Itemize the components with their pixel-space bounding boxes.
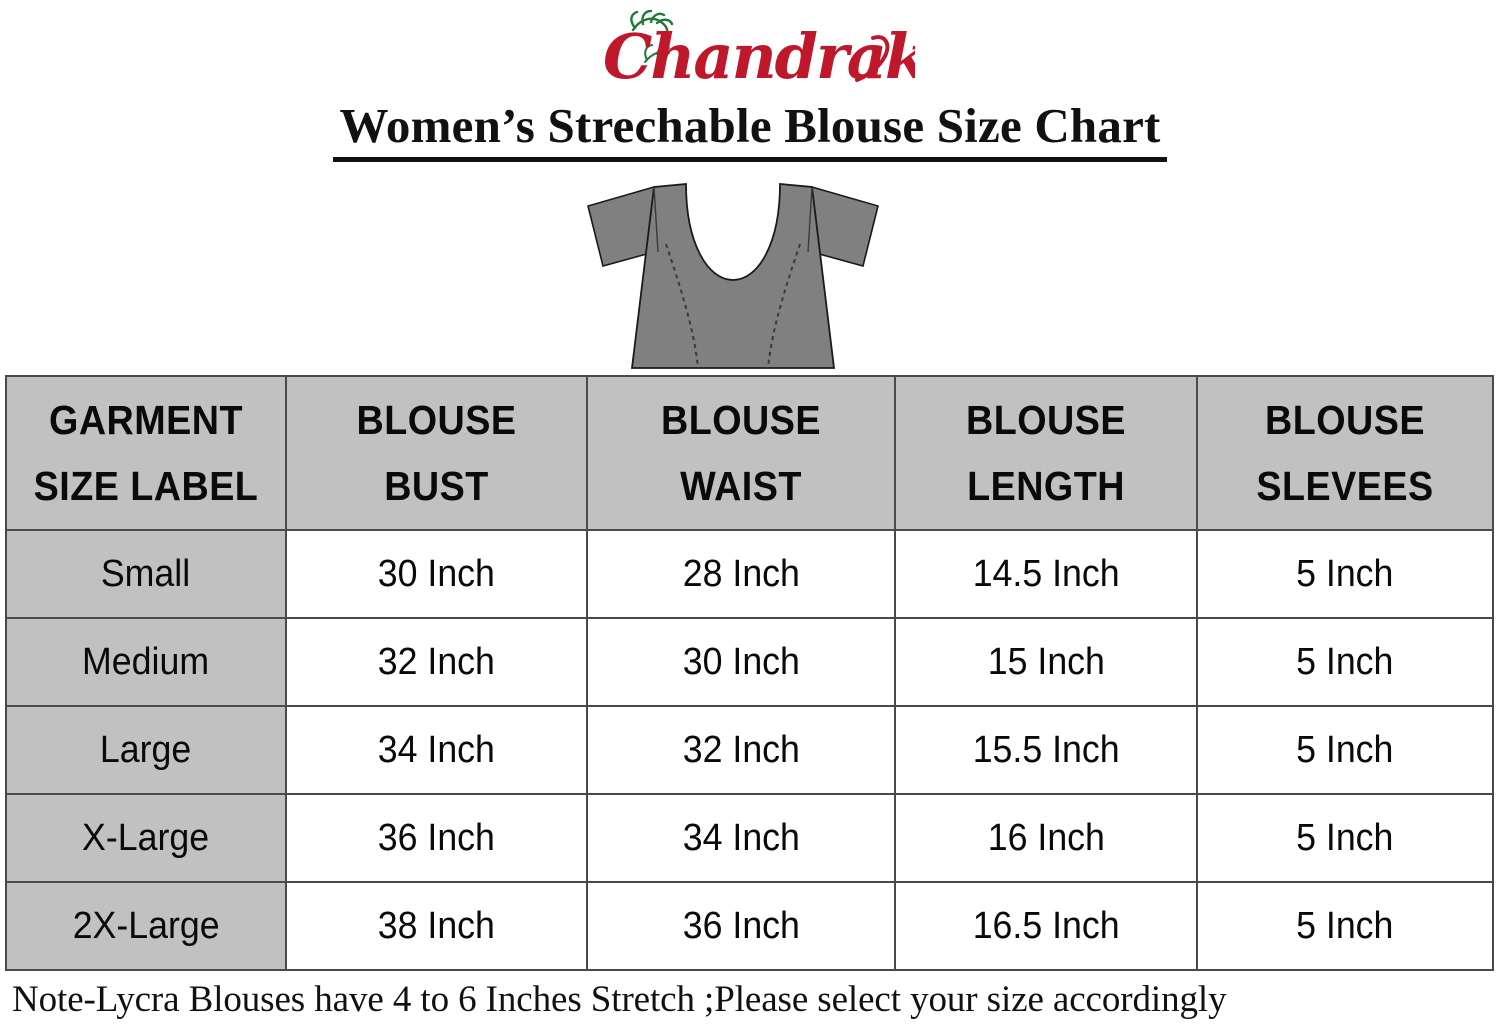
cell-sleeves: 5 Inch [1197, 882, 1493, 970]
cell-text: 14.5 Inch [973, 553, 1120, 596]
cell-length: 16 Inch [895, 794, 1197, 882]
column-header-blouse-length: BLOUSE LENGTH [895, 376, 1197, 530]
table-row: Medium 32 Inch 30 Inch 15 Inch 5 Inch [6, 618, 1493, 706]
table-row: X-Large 36 Inch 34 Inch 16 Inch 5 Inch [6, 794, 1493, 882]
cell-text: 30 Inch [378, 553, 495, 596]
cell-bust: 38 Inch [286, 882, 587, 970]
cell-text: 5 Inch [1296, 729, 1393, 772]
cell-text: 32 Inch [378, 641, 495, 684]
cell-waist: 34 Inch [587, 794, 895, 882]
cell-size-label: 2X-Large [6, 882, 286, 970]
cell-text: Medium [82, 641, 209, 684]
cell-sleeves: 5 Inch [1197, 706, 1493, 794]
cell-text: 34 Inch [682, 817, 799, 860]
cell-text: 16.5 Inch [973, 905, 1120, 948]
cell-bust: 36 Inch [286, 794, 587, 882]
header-line-1: GARMENT [18, 387, 274, 453]
cell-length: 15.5 Inch [895, 706, 1197, 794]
table-row: Large 34 Inch 32 Inch 15.5 Inch 5 Inch [6, 706, 1493, 794]
table-row: Small 30 Inch 28 Inch 14.5 Inch 5 Inch [6, 530, 1493, 618]
header-line-1: BLOUSE [600, 387, 882, 453]
cell-sleeves: 5 Inch [1197, 794, 1493, 882]
cell-text: 36 Inch [682, 905, 799, 948]
cell-text: 34 Inch [378, 729, 495, 772]
page-title-container: Women’s Strechable Blouse Size Chart [0, 100, 1500, 162]
header-line-1: BLOUSE [299, 387, 574, 453]
cell-text: 5 Inch [1296, 817, 1393, 860]
cell-length: 16.5 Inch [895, 882, 1197, 970]
header-line-2: SLEVEES [1210, 453, 1480, 519]
cell-sleeves: 5 Inch [1197, 530, 1493, 618]
column-header-blouse-bust: BLOUSE BUST [286, 376, 587, 530]
cell-waist: 28 Inch [587, 530, 895, 618]
cell-text: 2X-Large [73, 905, 220, 948]
cell-waist: 30 Inch [587, 618, 895, 706]
blouse-left-sleeve [588, 187, 654, 266]
cell-text: 38 Inch [378, 905, 495, 948]
leaf-inner-icon [645, 45, 669, 62]
cell-text: 30 Inch [682, 641, 799, 684]
cell-bust: 34 Inch [286, 706, 587, 794]
cell-text: 15.5 Inch [973, 729, 1120, 772]
cell-text: 32 Inch [682, 729, 799, 772]
cell-waist: 32 Inch [587, 706, 895, 794]
cell-text: 5 Inch [1296, 641, 1393, 684]
cell-sleeves: 5 Inch [1197, 618, 1493, 706]
cell-text: X-Large [82, 817, 209, 860]
blouse-body [632, 184, 834, 368]
table-header-row: GARMENT SIZE LABEL BLOUSE BUST BLOUSE WA… [6, 376, 1493, 530]
cell-text: 16 Inch [987, 817, 1104, 860]
blouse-illustration [558, 182, 908, 374]
cell-bust: 32 Inch [286, 618, 587, 706]
header-line-2: SIZE LABEL [18, 453, 274, 519]
cell-length: 15 Inch [895, 618, 1197, 706]
brand-logo: Chandrakala [0, 8, 1500, 100]
cell-text: 5 Inch [1296, 905, 1393, 948]
blouse-silhouette-icon [558, 182, 908, 374]
cell-size-label: Medium [6, 618, 286, 706]
column-header-blouse-waist: BLOUSE WAIST [587, 376, 895, 530]
header-line-1: BLOUSE [1210, 387, 1480, 453]
column-header-blouse-sleeves: BLOUSE SLEVEES [1197, 376, 1493, 530]
cell-size-label: X-Large [6, 794, 286, 882]
header-line-2: BUST [299, 453, 574, 519]
column-header-garment-size-label: GARMENT SIZE LABEL [6, 376, 286, 530]
cell-text: 28 Inch [682, 553, 799, 596]
cell-waist: 36 Inch [587, 882, 895, 970]
footer-note: Note-Lycra Blouses have 4 to 6 Inches St… [12, 978, 1492, 1021]
cell-length: 14.5 Inch [895, 530, 1197, 618]
chandrakala-logo-icon: Chandrakala [585, 8, 915, 100]
table-row: 2X-Large 38 Inch 36 Inch 16.5 Inch 5 Inc… [6, 882, 1493, 970]
cell-bust: 30 Inch [286, 530, 587, 618]
header-line-2: WAIST [600, 453, 882, 519]
page-title: Women’s Strechable Blouse Size Chart [333, 100, 1166, 162]
cell-text: 36 Inch [378, 817, 495, 860]
cell-text: Large [100, 729, 191, 772]
brand-wordmark: Chandrakala [603, 20, 915, 93]
header-line-1: BLOUSE [908, 387, 1184, 453]
logo-flourish-icon [857, 37, 887, 80]
cell-size-label: Large [6, 706, 286, 794]
cell-text: Small [101, 553, 190, 596]
cell-text: 5 Inch [1296, 553, 1393, 596]
blouse-right-sleeve [812, 187, 878, 266]
cell-text: 15 Inch [987, 641, 1104, 684]
cell-size-label: Small [6, 530, 286, 618]
header-line-2: LENGTH [908, 453, 1184, 519]
leaf-sprig-icon [631, 11, 672, 36]
size-chart-table: GARMENT SIZE LABEL BLOUSE BUST BLOUSE WA… [5, 375, 1494, 971]
